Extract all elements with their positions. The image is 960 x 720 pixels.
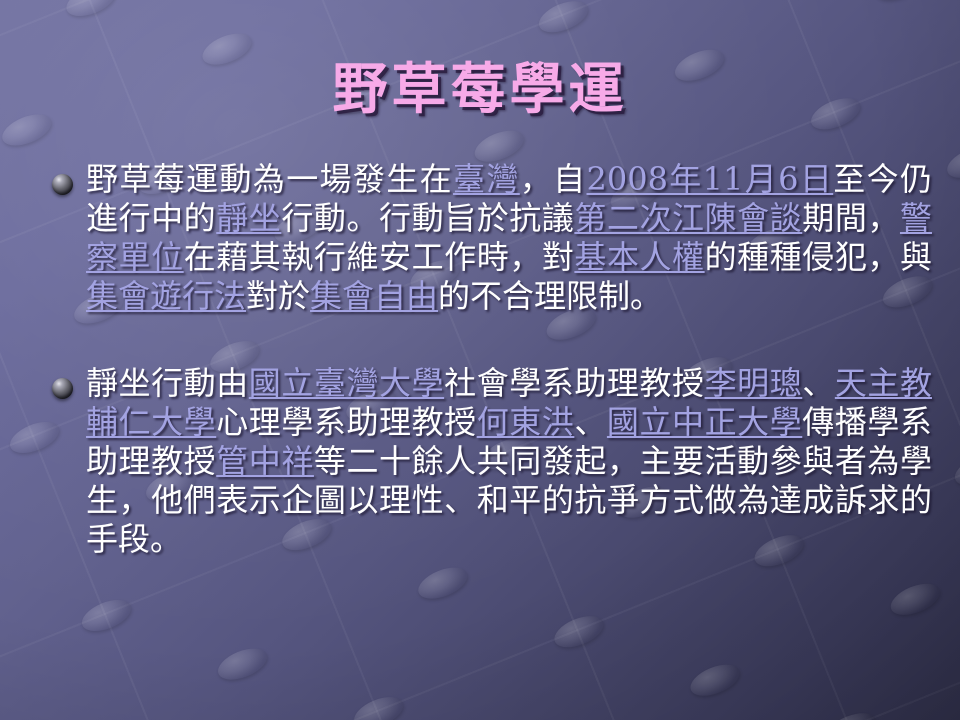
slide-content: 野草莓學運 野草莓運動為一場發生在臺灣，自2008年11月6日至今仍進行中的靜坐… (0, 0, 960, 720)
text-run: 行動。行動旨於抗議 (281, 199, 574, 237)
hyperlink[interactable]: 集會遊行法 (86, 277, 246, 315)
text-run: ，自 (520, 160, 587, 198)
hyperlink[interactable]: 2008年11月6日 (587, 160, 834, 198)
bullet-item: 野草莓運動為一場發生在臺灣，自2008年11月6日至今仍進行中的靜坐行動。行動旨… (52, 160, 932, 316)
hyperlink[interactable]: 臺灣 (453, 160, 520, 198)
text-run: 的不合理限制。 (438, 277, 662, 315)
presentation-slide: 野草莓學運 野草莓運動為一場發生在臺灣，自2008年11月6日至今仍進行中的靜坐… (0, 0, 960, 720)
hyperlink[interactable]: 國立臺灣大學 (249, 364, 444, 402)
text-run: 在藉其執行維安工作時，對 (184, 238, 575, 276)
hyperlink[interactable]: 李明璁 (705, 364, 803, 402)
hyperlink[interactable]: 集會自由 (310, 277, 438, 315)
text-run: 、 (802, 364, 835, 402)
hyperlink[interactable]: 基本人權 (574, 238, 704, 276)
sphere-bullet-icon (52, 174, 73, 195)
text-run: 心理學系助理教授 (216, 403, 476, 441)
text-run: 期間， (802, 199, 900, 237)
text-run: 野草莓運動為一場發生在 (86, 160, 453, 198)
hyperlink[interactable]: 何東洪 (477, 403, 575, 441)
paragraph-2: 靜坐行動由國立臺灣大學社會學系助理教授李明璁、天主教輔仁大學心理學系助理教授何東… (86, 364, 932, 559)
slide-body: 野草莓運動為一場發生在臺灣，自2008年11月6日至今仍進行中的靜坐行動。行動旨… (52, 160, 932, 607)
hyperlink[interactable]: 靜坐 (216, 199, 281, 237)
sphere-bullet-icon (52, 378, 73, 399)
bullet-item: 靜坐行動由國立臺灣大學社會學系助理教授李明璁、天主教輔仁大學心理學系助理教授何東… (52, 364, 932, 559)
hyperlink[interactable]: 管中祥 (216, 442, 314, 480)
slide-title: 野草莓學運 (0, 58, 960, 120)
text-run: 對於 (246, 277, 310, 315)
text-run: 、 (574, 403, 607, 441)
paragraph-1: 野草莓運動為一場發生在臺灣，自2008年11月6日至今仍進行中的靜坐行動。行動旨… (86, 160, 932, 316)
text-run: 社會學系助理教授 (444, 364, 704, 402)
hyperlink[interactable]: 第二次江陳會談 (574, 199, 802, 237)
hyperlink[interactable]: 國立中正大學 (607, 403, 802, 441)
text-run: 靜坐行動由 (86, 364, 249, 402)
text-run: 的種種侵犯，與 (705, 238, 932, 276)
